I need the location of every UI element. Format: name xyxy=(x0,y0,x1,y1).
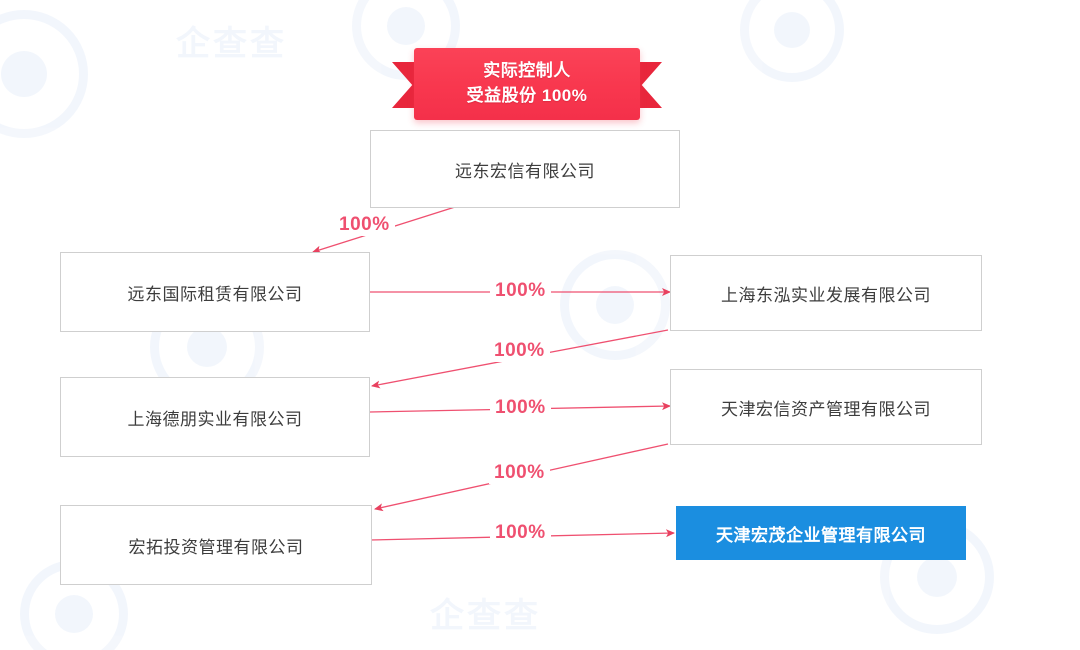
node-right2[interactable]: 天津宏信资产管理有限公司 xyxy=(670,369,982,445)
node-right2-label: 天津宏信资产管理有限公司 xyxy=(721,395,931,420)
edge-label-right2-to-left3: 100% xyxy=(489,462,550,484)
node-left2-label: 上海德朋实业有限公司 xyxy=(128,405,303,430)
node-left2[interactable]: 上海德朋实业有限公司 xyxy=(60,377,370,457)
node-left1-label: 远东国际租赁有限公司 xyxy=(128,280,303,305)
node-left3[interactable]: 宏拓投资管理有限公司 xyxy=(60,505,372,585)
edge-label-root-to-left1: 100% xyxy=(334,214,395,236)
node-left1[interactable]: 远东国际租赁有限公司 xyxy=(60,252,370,332)
node-right1[interactable]: 上海东泓实业发展有限公司 xyxy=(670,255,982,331)
edge-label-right1-to-left2: 100% xyxy=(489,340,550,362)
edge-label-left3-to-right3: 100% xyxy=(490,522,551,544)
node-root-label: 远东宏信有限公司 xyxy=(455,157,595,182)
node-right3-highlighted[interactable]: 天津宏茂企业管理有限公司 xyxy=(676,506,966,560)
node-left3-label: 宏拓投资管理有限公司 xyxy=(129,533,304,558)
ownership-diagram-canvas: 企查查 企查查 企查查 实际控制人 受益股份 100% 100% 100% xyxy=(0,0,1080,650)
node-root[interactable]: 远东宏信有限公司 xyxy=(370,130,680,208)
edge-label-left1-to-right1: 100% xyxy=(490,280,551,302)
node-right1-label: 上海东泓实业发展有限公司 xyxy=(721,281,931,306)
node-right3-label: 天津宏茂企业管理有限公司 xyxy=(716,521,926,546)
edge-label-left2-to-right2: 100% xyxy=(490,397,551,419)
